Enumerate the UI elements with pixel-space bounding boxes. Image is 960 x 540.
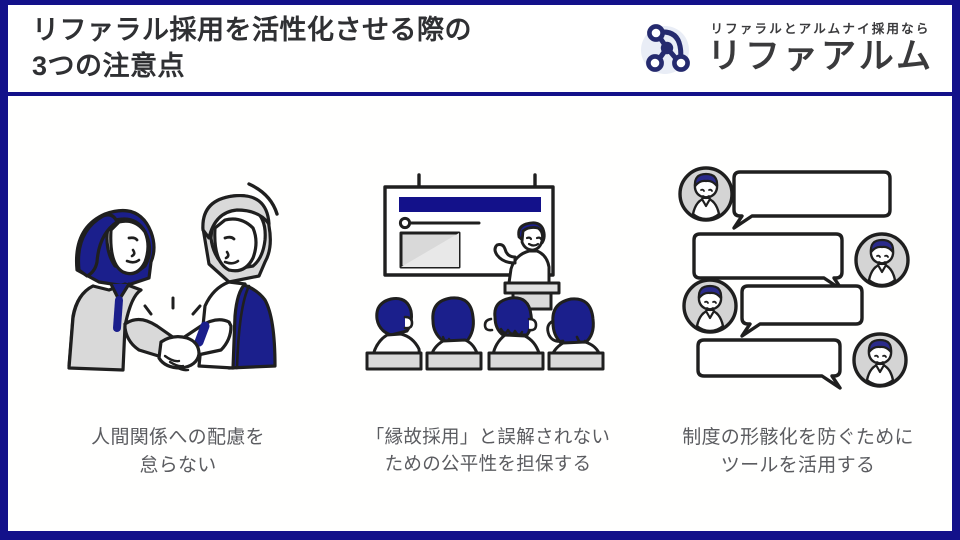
slide-header: リファラル採用を活性化させる際の 3つの注意点 リファラルとアルムナイ採用なら bbox=[0, 0, 960, 96]
point-card-3: 制度の形骸化を防ぐために ツールを活用する bbox=[644, 96, 952, 479]
point-caption-2: 「縁故採用」と誤解されない ための公平性を担保する bbox=[366, 424, 610, 478]
chat-conversation-illustration bbox=[644, 156, 952, 406]
point-caption-1: 人間関係への配慮を 怠らない bbox=[91, 424, 265, 479]
point-card-2: 「縁故採用」と誤解されない ための公平性を担保する bbox=[334, 96, 642, 478]
page-title-line-1: リファラル採用を活性化させる際の bbox=[32, 13, 632, 49]
logo-tagline: リファラルとアルムナイ採用なら bbox=[710, 23, 930, 36]
slide-root: リファラル採用を活性化させる際の 3つの注意点 リファラルとアルムナイ採用なら bbox=[0, 0, 960, 540]
points-row: 人間関係への配慮を 怠らない bbox=[16, 96, 960, 526]
logo-wordmark: リファラルとアルムナイ採用なら リファアルム bbox=[707, 23, 934, 75]
network-nodes-icon bbox=[637, 18, 699, 80]
presentation-illustration bbox=[334, 156, 642, 406]
page-title: リファラル採用を活性化させる際の 3つの注意点 bbox=[8, 13, 632, 84]
slide-body: 人間関係への配慮を 怠らない bbox=[0, 96, 960, 540]
handshake-illustration bbox=[24, 156, 332, 406]
page-title-line-2: 3つの注意点 bbox=[32, 49, 632, 85]
point-card-1: 人間関係への配慮を 怠らない bbox=[24, 96, 332, 479]
logo-brand-name: リファアルム bbox=[707, 39, 934, 74]
brand-logo: リファラルとアルムナイ採用なら リファアルム bbox=[632, 18, 952, 80]
point-caption-3: 制度の形骸化を防ぐために ツールを活用する bbox=[682, 424, 914, 479]
